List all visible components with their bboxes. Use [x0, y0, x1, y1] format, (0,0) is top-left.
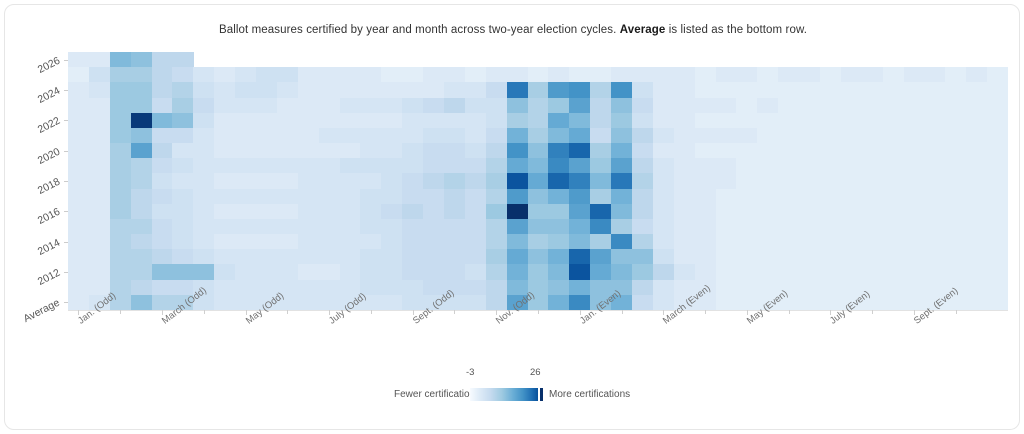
heatmap-cell[interactable] [862, 189, 883, 205]
heatmap-cell[interactable] [507, 158, 528, 174]
heatmap-cell[interactable] [590, 82, 611, 98]
heatmap-cell[interactable] [841, 204, 862, 220]
heatmap-cell[interactable] [674, 219, 695, 235]
heatmap-cell[interactable] [381, 189, 402, 205]
heatmap-cell[interactable] [110, 143, 131, 159]
heatmap-cell[interactable] [298, 67, 319, 83]
heatmap-cell[interactable] [402, 113, 423, 129]
heatmap-cell[interactable] [319, 280, 340, 296]
heatmap-cell[interactable] [298, 113, 319, 129]
heatmap-cell[interactable] [68, 189, 89, 205]
heatmap-cell[interactable] [110, 82, 131, 98]
heatmap-cell[interactable] [674, 204, 695, 220]
heatmap-cell[interactable] [862, 98, 883, 114]
heatmap-cell[interactable] [298, 189, 319, 205]
heatmap-cell[interactable] [131, 295, 152, 311]
heatmap-cell[interactable] [987, 204, 1008, 220]
heatmap-cell[interactable] [423, 204, 444, 220]
heatmap-cell[interactable] [548, 189, 569, 205]
heatmap-cell[interactable] [548, 113, 569, 129]
heatmap-cell[interactable] [611, 249, 632, 265]
heatmap-cell[interactable] [611, 234, 632, 250]
heatmap-cell[interactable] [444, 82, 465, 98]
heatmap-cell[interactable] [548, 264, 569, 280]
heatmap-cell[interactable] [820, 249, 841, 265]
heatmap-cell[interactable] [152, 264, 173, 280]
heatmap-cell[interactable] [716, 249, 737, 265]
heatmap-cell[interactable] [528, 113, 549, 129]
heatmap-cell[interactable] [152, 189, 173, 205]
heatmap-cell[interactable] [152, 52, 173, 68]
heatmap-cell[interactable] [214, 98, 235, 114]
heatmap-cell[interactable] [360, 189, 381, 205]
heatmap-cell[interactable] [778, 67, 799, 83]
heatmap-cell[interactable] [235, 219, 256, 235]
heatmap-cell[interactable] [465, 82, 486, 98]
heatmap-cell[interactable] [381, 173, 402, 189]
heatmap-cell[interactable] [131, 204, 152, 220]
heatmap-cell[interactable] [256, 113, 277, 129]
heatmap-cell[interactable] [757, 234, 778, 250]
heatmap-cell[interactable] [319, 249, 340, 265]
heatmap-cell[interactable] [653, 82, 674, 98]
heatmap-cell[interactable] [924, 113, 945, 129]
heatmap-cell[interactable] [799, 204, 820, 220]
heatmap-cell[interactable] [193, 264, 214, 280]
heatmap-cell[interactable] [444, 219, 465, 235]
heatmap-cell[interactable] [465, 219, 486, 235]
heatmap-cell[interactable] [862, 249, 883, 265]
heatmap-cell[interactable] [736, 280, 757, 296]
heatmap-cell[interactable] [966, 204, 987, 220]
heatmap-cell[interactable] [904, 264, 925, 280]
heatmap-cell[interactable] [110, 113, 131, 129]
heatmap-cell[interactable] [465, 295, 486, 311]
heatmap-cell[interactable] [486, 204, 507, 220]
heatmap-cell[interactable] [674, 158, 695, 174]
heatmap-cell[interactable] [152, 67, 173, 83]
heatmap-cell[interactable] [569, 249, 590, 265]
heatmap-cell[interactable] [548, 204, 569, 220]
heatmap-cell[interactable] [862, 204, 883, 220]
heatmap-cell[interactable] [716, 113, 737, 129]
heatmap-cell[interactable] [716, 98, 737, 114]
heatmap-cell[interactable] [214, 82, 235, 98]
heatmap-cell[interactable] [68, 82, 89, 98]
heatmap-cell[interactable] [569, 219, 590, 235]
heatmap-cell[interactable] [590, 264, 611, 280]
heatmap-cell[interactable] [340, 189, 361, 205]
heatmap-cell[interactable] [89, 143, 110, 159]
heatmap-cell[interactable] [402, 173, 423, 189]
heatmap-cell[interactable] [945, 204, 966, 220]
heatmap-cell[interactable] [402, 219, 423, 235]
heatmap-cell[interactable] [590, 234, 611, 250]
heatmap-cell[interactable] [277, 234, 298, 250]
heatmap-cell[interactable] [298, 249, 319, 265]
heatmap-cell[interactable] [883, 295, 904, 311]
heatmap-cell[interactable] [340, 249, 361, 265]
heatmap-cell[interactable] [987, 67, 1008, 83]
heatmap-cell[interactable] [945, 219, 966, 235]
heatmap-cell[interactable] [883, 173, 904, 189]
heatmap-cell[interactable] [507, 219, 528, 235]
heatmap-cell[interactable] [402, 189, 423, 205]
heatmap-cell[interactable] [486, 249, 507, 265]
heatmap-cell[interactable] [590, 219, 611, 235]
heatmap-cell[interactable] [486, 234, 507, 250]
heatmap-cell[interactable] [611, 173, 632, 189]
heatmap-cell[interactable] [360, 219, 381, 235]
heatmap-cell[interactable] [381, 234, 402, 250]
heatmap-cell[interactable] [486, 280, 507, 296]
heatmap-cell[interactable] [214, 280, 235, 296]
heatmap-cell[interactable] [548, 128, 569, 144]
heatmap-cell[interactable] [736, 98, 757, 114]
heatmap-cell[interactable] [444, 204, 465, 220]
heatmap-cell[interactable] [590, 98, 611, 114]
heatmap-cell[interactable] [152, 295, 173, 311]
heatmap-cell[interactable] [736, 249, 757, 265]
heatmap-cell[interactable] [110, 67, 131, 83]
heatmap-cell[interactable] [924, 204, 945, 220]
heatmap-cell[interactable] [695, 143, 716, 159]
heatmap-cell[interactable] [841, 219, 862, 235]
heatmap-cell[interactable] [569, 158, 590, 174]
heatmap-cell[interactable] [110, 158, 131, 174]
heatmap-cell[interactable] [298, 219, 319, 235]
heatmap-cell[interactable] [924, 158, 945, 174]
heatmap-cell[interactable] [214, 264, 235, 280]
heatmap-cell[interactable] [172, 143, 193, 159]
heatmap-cell[interactable] [152, 249, 173, 265]
heatmap-cell[interactable] [757, 189, 778, 205]
heatmap-cell[interactable] [277, 264, 298, 280]
heatmap-cell[interactable] [716, 189, 737, 205]
heatmap-cell[interactable] [235, 295, 256, 311]
heatmap-cell[interactable] [172, 67, 193, 83]
heatmap-cell[interactable] [486, 98, 507, 114]
heatmap-cell[interactable] [89, 234, 110, 250]
heatmap-cell[interactable] [841, 234, 862, 250]
heatmap-cell[interactable] [799, 82, 820, 98]
heatmap-cell[interactable] [298, 98, 319, 114]
heatmap-cell[interactable] [131, 249, 152, 265]
heatmap-cell[interactable] [862, 82, 883, 98]
heatmap-cell[interactable] [89, 52, 110, 68]
heatmap-cell[interactable] [381, 98, 402, 114]
heatmap-cell[interactable] [277, 98, 298, 114]
heatmap-cell[interactable] [883, 128, 904, 144]
heatmap-cell[interactable] [235, 234, 256, 250]
heatmap-cell[interactable] [256, 82, 277, 98]
heatmap-cell[interactable] [862, 67, 883, 83]
heatmap-cell[interactable] [214, 234, 235, 250]
heatmap-cell[interactable] [319, 234, 340, 250]
heatmap-cell[interactable] [110, 128, 131, 144]
heatmap-cell[interactable] [820, 173, 841, 189]
heatmap-cell[interactable] [883, 264, 904, 280]
heatmap-cell[interactable] [528, 98, 549, 114]
heatmap-cell[interactable] [987, 143, 1008, 159]
heatmap-cell[interactable] [987, 249, 1008, 265]
heatmap-cell[interactable] [235, 82, 256, 98]
heatmap-cell[interactable] [298, 143, 319, 159]
heatmap-cell[interactable] [444, 98, 465, 114]
heatmap-cell[interactable] [778, 158, 799, 174]
heatmap-cell[interactable] [152, 113, 173, 129]
heatmap-cell[interactable] [987, 264, 1008, 280]
heatmap-cell[interactable] [423, 158, 444, 174]
heatmap-cell[interactable] [89, 82, 110, 98]
heatmap-cell[interactable] [966, 280, 987, 296]
heatmap-cell[interactable] [966, 113, 987, 129]
heatmap-cell[interactable] [778, 98, 799, 114]
heatmap-cell[interactable] [340, 204, 361, 220]
heatmap-cell[interactable] [193, 158, 214, 174]
heatmap-cell[interactable] [736, 234, 757, 250]
heatmap-cell[interactable] [256, 173, 277, 189]
heatmap-cell[interactable] [172, 264, 193, 280]
heatmap-cell[interactable] [548, 143, 569, 159]
heatmap-cell[interactable] [110, 219, 131, 235]
heatmap-cell[interactable] [924, 219, 945, 235]
heatmap-cell[interactable] [674, 98, 695, 114]
heatmap-cell[interactable] [569, 204, 590, 220]
heatmap-cell[interactable] [883, 82, 904, 98]
heatmap-cell[interactable] [172, 189, 193, 205]
heatmap-cell[interactable] [486, 189, 507, 205]
heatmap-cell[interactable] [235, 98, 256, 114]
heatmap-cell[interactable] [820, 204, 841, 220]
heatmap-cell[interactable] [131, 67, 152, 83]
heatmap-cell[interactable] [820, 143, 841, 159]
heatmap-cell[interactable] [486, 264, 507, 280]
heatmap-cell[interactable] [716, 158, 737, 174]
heatmap-cell[interactable] [820, 98, 841, 114]
heatmap-cell[interactable] [904, 219, 925, 235]
heatmap-cell[interactable] [841, 249, 862, 265]
heatmap-cell[interactable] [924, 98, 945, 114]
heatmap-cell[interactable] [757, 219, 778, 235]
heatmap-cell[interactable] [883, 98, 904, 114]
heatmap-cell[interactable] [340, 128, 361, 144]
heatmap-cell[interactable] [340, 113, 361, 129]
heatmap-cell[interactable] [736, 143, 757, 159]
heatmap-cell[interactable] [966, 249, 987, 265]
heatmap-cell[interactable] [987, 280, 1008, 296]
heatmap-cell[interactable] [381, 143, 402, 159]
heatmap-cell[interactable] [695, 128, 716, 144]
heatmap-cell[interactable] [653, 173, 674, 189]
heatmap-cell[interactable] [653, 67, 674, 83]
heatmap-cell[interactable] [966, 128, 987, 144]
heatmap-cell[interactable] [444, 67, 465, 83]
heatmap-cell[interactable] [68, 234, 89, 250]
heatmap-cell[interactable] [131, 280, 152, 296]
heatmap-cell[interactable] [465, 67, 486, 83]
heatmap-cell[interactable] [360, 204, 381, 220]
heatmap-cell[interactable] [340, 234, 361, 250]
heatmap-cell[interactable] [214, 113, 235, 129]
heatmap-cell[interactable] [569, 264, 590, 280]
heatmap-cell[interactable] [172, 234, 193, 250]
heatmap-cell[interactable] [862, 264, 883, 280]
heatmap-cell[interactable] [277, 143, 298, 159]
heatmap-cell[interactable] [68, 143, 89, 159]
heatmap-cell[interactable] [966, 67, 987, 83]
heatmap-cell[interactable] [360, 249, 381, 265]
heatmap-cell[interactable] [214, 189, 235, 205]
heatmap-cell[interactable] [152, 82, 173, 98]
heatmap-cell[interactable] [131, 158, 152, 174]
heatmap-cell[interactable] [695, 67, 716, 83]
heatmap-cell[interactable] [298, 173, 319, 189]
heatmap-cell[interactable] [674, 173, 695, 189]
heatmap-cell[interactable] [987, 173, 1008, 189]
heatmap-cell[interactable] [653, 189, 674, 205]
heatmap-cell[interactable] [193, 219, 214, 235]
heatmap-cell[interactable] [653, 204, 674, 220]
heatmap-cell[interactable] [590, 249, 611, 265]
heatmap-cell[interactable] [799, 128, 820, 144]
heatmap-cell[interactable] [632, 264, 653, 280]
heatmap-cell[interactable] [298, 204, 319, 220]
heatmap-cell[interactable] [172, 249, 193, 265]
heatmap-cell[interactable] [841, 264, 862, 280]
heatmap-cell[interactable] [862, 219, 883, 235]
heatmap-cell[interactable] [757, 204, 778, 220]
heatmap-cell[interactable] [68, 158, 89, 174]
heatmap-cell[interactable] [695, 189, 716, 205]
heatmap-cell[interactable] [904, 249, 925, 265]
heatmap-cell[interactable] [465, 264, 486, 280]
heatmap-cell[interactable] [110, 264, 131, 280]
heatmap-cell[interactable] [423, 128, 444, 144]
heatmap-cell[interactable] [340, 98, 361, 114]
heatmap-cell[interactable] [486, 295, 507, 311]
heatmap-cell[interactable] [528, 249, 549, 265]
heatmap-cell[interactable] [966, 143, 987, 159]
heatmap-cell[interactable] [402, 234, 423, 250]
heatmap-cell[interactable] [507, 82, 528, 98]
heatmap-cell[interactable] [590, 158, 611, 174]
heatmap-cell[interactable] [193, 98, 214, 114]
heatmap-cell[interactable] [653, 113, 674, 129]
heatmap-cell[interactable] [360, 113, 381, 129]
heatmap-cell[interactable] [214, 67, 235, 83]
heatmap-cell[interactable] [904, 189, 925, 205]
heatmap-cell[interactable] [528, 204, 549, 220]
heatmap-cell[interactable] [862, 234, 883, 250]
heatmap-cell[interactable] [298, 295, 319, 311]
heatmap-cell[interactable] [423, 143, 444, 159]
heatmap-cell[interactable] [653, 219, 674, 235]
heatmap-cell[interactable] [904, 234, 925, 250]
heatmap-cell[interactable] [110, 52, 131, 68]
heatmap-cell[interactable] [152, 219, 173, 235]
heatmap-cell[interactable] [841, 113, 862, 129]
heatmap-cell[interactable] [569, 67, 590, 83]
heatmap-cell[interactable] [611, 264, 632, 280]
heatmap-cell[interactable] [841, 173, 862, 189]
heatmap-cell[interactable] [653, 280, 674, 296]
heatmap-cell[interactable] [89, 264, 110, 280]
heatmap-cell[interactable] [799, 158, 820, 174]
heatmap-cell[interactable] [68, 52, 89, 68]
heatmap-cell[interactable] [340, 82, 361, 98]
heatmap-cell[interactable] [110, 173, 131, 189]
heatmap-cell[interactable] [695, 234, 716, 250]
heatmap-cell[interactable] [904, 67, 925, 83]
heatmap-cell[interactable] [716, 280, 737, 296]
heatmap-cell[interactable] [883, 219, 904, 235]
heatmap-cell[interactable] [632, 234, 653, 250]
heatmap-cell[interactable] [235, 204, 256, 220]
heatmap-cell[interactable] [632, 173, 653, 189]
heatmap-cell[interactable] [319, 158, 340, 174]
heatmap-cell[interactable] [757, 143, 778, 159]
heatmap-cell[interactable] [611, 219, 632, 235]
heatmap-cell[interactable] [507, 128, 528, 144]
heatmap-cell[interactable] [277, 113, 298, 129]
heatmap-cell[interactable] [172, 52, 193, 68]
heatmap-cell[interactable] [736, 189, 757, 205]
heatmap-cell[interactable] [945, 98, 966, 114]
heatmap-cell[interactable] [820, 113, 841, 129]
heatmap-cell[interactable] [277, 249, 298, 265]
heatmap-cell[interactable] [423, 173, 444, 189]
heatmap-cell[interactable] [89, 219, 110, 235]
heatmap-cell[interactable] [966, 219, 987, 235]
heatmap-cell[interactable] [423, 67, 444, 83]
heatmap-cell[interactable] [632, 219, 653, 235]
heatmap-cell[interactable] [319, 264, 340, 280]
heatmap-cell[interactable] [235, 158, 256, 174]
heatmap-cell[interactable] [423, 249, 444, 265]
heatmap-cell[interactable] [444, 249, 465, 265]
heatmap-cell[interactable] [966, 234, 987, 250]
heatmap-cell[interactable] [402, 67, 423, 83]
heatmap-cell[interactable] [548, 219, 569, 235]
heatmap-cell[interactable] [987, 113, 1008, 129]
heatmap-cell[interactable] [987, 82, 1008, 98]
heatmap-cell[interactable] [486, 158, 507, 174]
heatmap-cell[interactable] [945, 158, 966, 174]
heatmap-cell[interactable] [904, 128, 925, 144]
heatmap-cell[interactable] [528, 219, 549, 235]
heatmap-cell[interactable] [131, 143, 152, 159]
heatmap-cell[interactable] [465, 249, 486, 265]
heatmap-cell[interactable] [68, 280, 89, 296]
heatmap-cell[interactable] [569, 280, 590, 296]
heatmap-cell[interactable] [632, 82, 653, 98]
heatmap-cell[interactable] [131, 52, 152, 68]
heatmap-cell[interactable] [883, 113, 904, 129]
heatmap-cell[interactable] [632, 249, 653, 265]
heatmap-cell[interactable] [381, 128, 402, 144]
heatmap-cell[interactable] [799, 219, 820, 235]
heatmap-cell[interactable] [402, 98, 423, 114]
heatmap-cell[interactable] [987, 189, 1008, 205]
heatmap-cell[interactable] [820, 234, 841, 250]
heatmap-cell[interactable] [716, 82, 737, 98]
heatmap-cell[interactable] [423, 113, 444, 129]
heatmap-cell[interactable] [987, 295, 1008, 311]
heatmap-cell[interactable] [716, 204, 737, 220]
heatmap-cell[interactable] [653, 98, 674, 114]
heatmap-cell[interactable] [360, 67, 381, 83]
